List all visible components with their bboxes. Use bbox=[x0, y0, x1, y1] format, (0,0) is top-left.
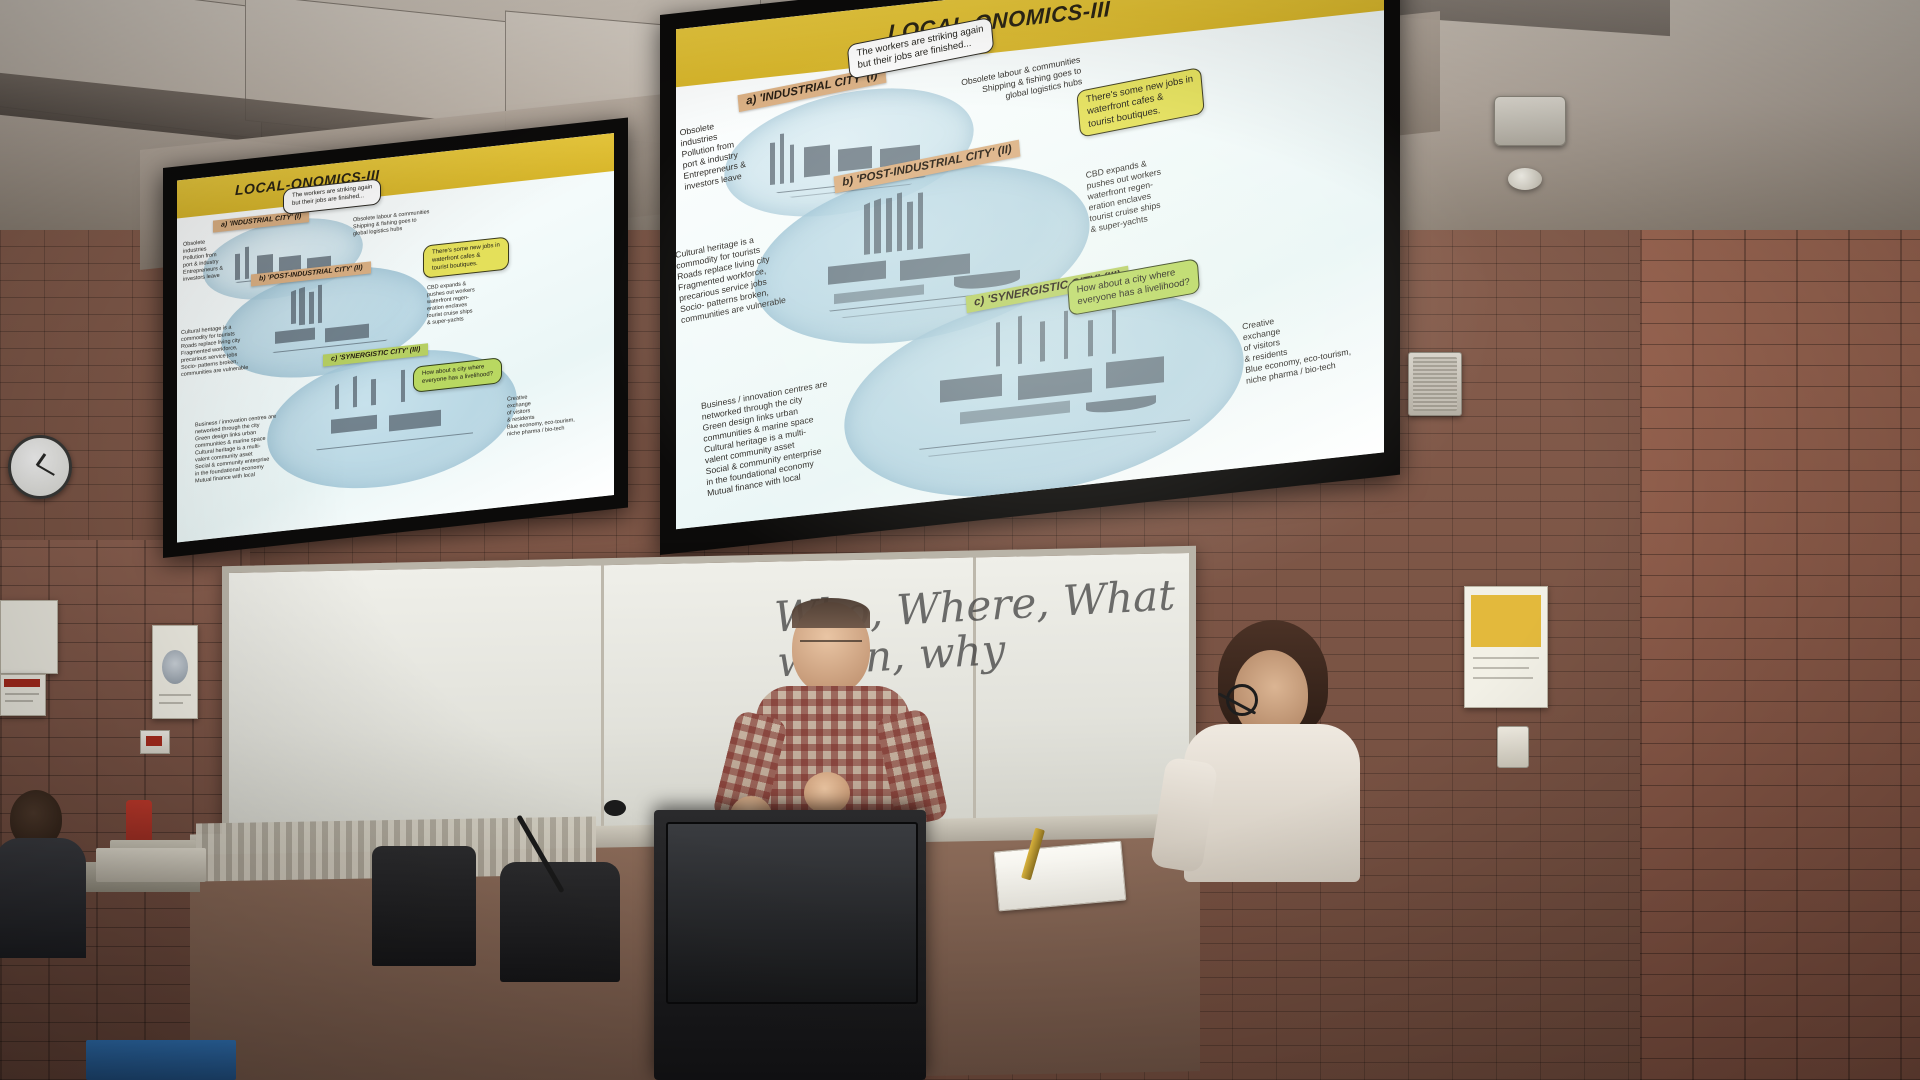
clock-hand-minute bbox=[37, 464, 55, 476]
annotation-industrial-left: Obsolete industries Pollution from port … bbox=[183, 237, 223, 284]
poster-left bbox=[0, 674, 46, 716]
annotation-industrial-right-main: Obsolete labour & communities Shipping &… bbox=[961, 54, 1083, 110]
noticeboard-left bbox=[0, 600, 58, 674]
annotation-post-right-main: CBD expands & pushes out workers waterfr… bbox=[1085, 156, 1165, 236]
emergency-red-mark bbox=[146, 736, 162, 746]
right-screen-surface: LOCAL-ONOMICS-III bbox=[676, 0, 1384, 529]
annotation-industrial-right: Obsolete labour & communities Shipping &… bbox=[353, 209, 429, 238]
microphone-head bbox=[604, 800, 626, 816]
books-lower-left bbox=[86, 1040, 236, 1080]
poster-line bbox=[5, 693, 39, 695]
chair-left[interactable] bbox=[372, 846, 476, 966]
presenter-hand-right bbox=[804, 772, 850, 814]
slide-copy-left: LOCAL-ONOMICS-III bbox=[177, 133, 614, 542]
ceiling-speaker bbox=[1408, 352, 1462, 416]
wall-light bbox=[1508, 168, 1542, 190]
wall-clock bbox=[8, 435, 72, 499]
desk-lower-left bbox=[96, 848, 206, 882]
annotation-post-left: Cultural heritage is a commodity for tou… bbox=[181, 323, 248, 380]
attendee-torso bbox=[0, 838, 86, 958]
poster-red-band bbox=[4, 679, 40, 687]
annotation-syn-left: Business / innovation centres are networ… bbox=[195, 414, 276, 486]
poster-line bbox=[1473, 667, 1529, 669]
chair-center[interactable] bbox=[500, 862, 620, 982]
annotation-post-right: CBD expands & pushes out workers waterfr… bbox=[427, 280, 475, 327]
wall-device-upper-right bbox=[1494, 96, 1566, 146]
lectern-monitor[interactable] bbox=[666, 822, 918, 1004]
left-screen-frame: LOCAL-ONOMICS-III bbox=[163, 117, 628, 558]
poster-center-left bbox=[152, 625, 198, 719]
poster-figure bbox=[162, 650, 188, 684]
right-screen-frame: LOCAL-ONOMICS-III bbox=[660, 0, 1400, 555]
slide-main: LOCAL-ONOMICS-III bbox=[676, 0, 1384, 529]
speaker-grill bbox=[1413, 357, 1457, 411]
poster-line bbox=[159, 702, 183, 704]
poster-line bbox=[1473, 657, 1539, 659]
poster-line bbox=[1473, 677, 1533, 679]
annotation-industrial-left-main: Obsolete industries Pollution from port … bbox=[679, 116, 747, 193]
seated-attendee bbox=[0, 790, 130, 1080]
presenter-glasses bbox=[800, 640, 862, 652]
left-screen-surface: LOCAL-ONOMICS-III bbox=[177, 133, 614, 542]
assistant bbox=[1130, 620, 1370, 882]
poster-line bbox=[159, 694, 191, 696]
wall-socket[interactable] bbox=[1497, 726, 1529, 768]
annotation-syn-left-main: Business / innovation centres are networ… bbox=[701, 379, 834, 500]
presenter-hair bbox=[792, 598, 870, 628]
notebook[interactable] bbox=[994, 841, 1127, 912]
callout-new-jobs-main: There's some new jobs in waterfront cafe… bbox=[1076, 67, 1205, 138]
poster-band bbox=[1471, 595, 1541, 647]
callout-new-jobs: There's some new jobs in waterfront cafe… bbox=[423, 236, 509, 279]
annotation-syn-right: Creative exchange of visitors & resident… bbox=[507, 389, 575, 439]
annotation-syn-right-main: Creative exchange of visitors & resident… bbox=[1242, 303, 1352, 387]
whiteboard-divider bbox=[601, 565, 604, 833]
lecture-hall-scene: LOCAL-ONOMICS-III bbox=[0, 0, 1920, 1080]
poster-right bbox=[1464, 586, 1548, 708]
poster-line bbox=[5, 700, 33, 702]
